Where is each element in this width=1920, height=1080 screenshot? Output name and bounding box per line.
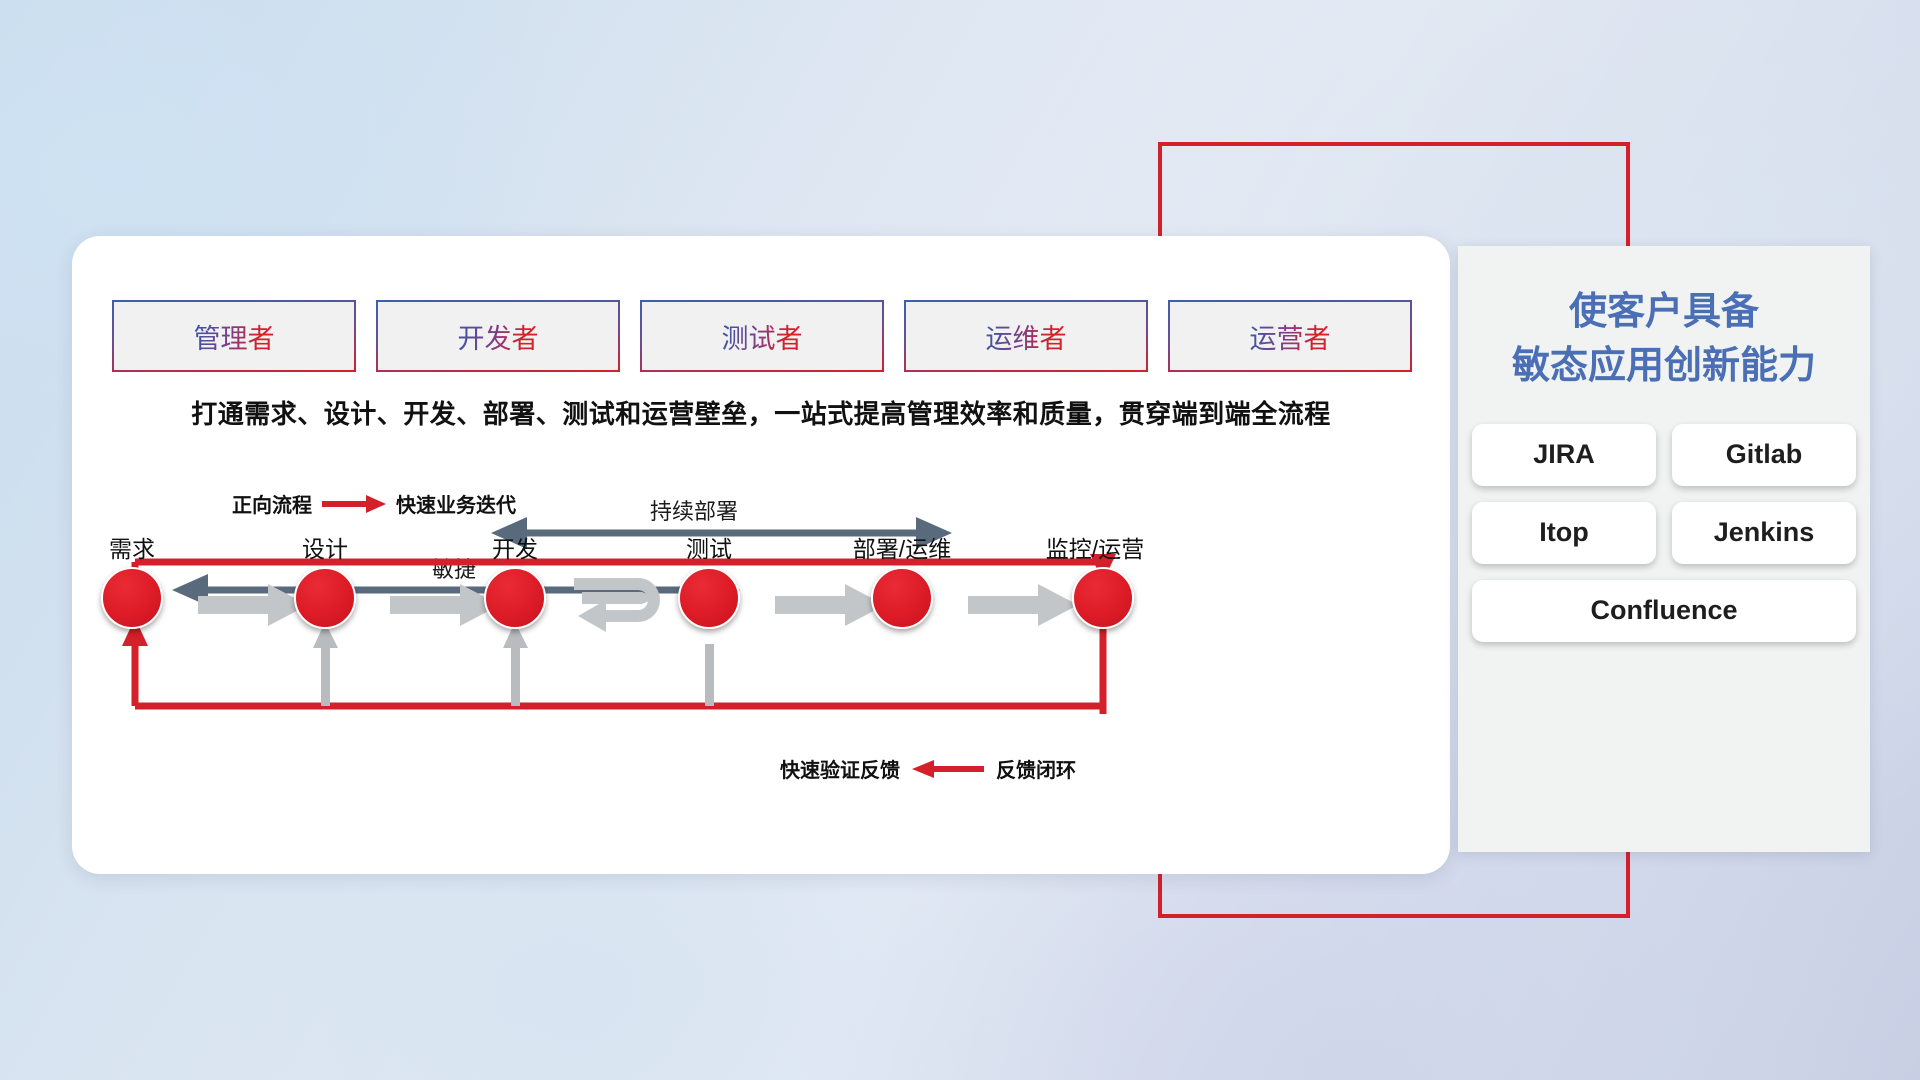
outer-red-frame-bottom — [1158, 914, 1630, 918]
arrow-right-icon — [390, 584, 500, 626]
riser-test — [705, 644, 714, 706]
pipeline-node-label: 需求 — [109, 530, 155, 564]
pipeline-node-label: 测试 — [686, 530, 732, 564]
node-riser-group — [72, 236, 1450, 874]
value-panel: 使客户具备 敏态应用创新能力 JIRA Gitlab Itop Jenkins … — [1458, 246, 1870, 852]
arrow-right-icon — [775, 584, 885, 626]
pipeline-node-dot[interactable] — [294, 567, 356, 629]
pipeline-node-dot[interactable] — [101, 567, 163, 629]
arrow-right-icon — [968, 584, 1078, 626]
tool-chip-gitlab[interactable]: Gitlab — [1672, 424, 1856, 486]
tool-chip-jenkins[interactable]: Jenkins — [1672, 502, 1856, 564]
pipeline-node-dot[interactable] — [1072, 567, 1134, 629]
pipeline-node-dot[interactable] — [678, 567, 740, 629]
cycle-loop-icon — [572, 572, 690, 644]
slide-canvas: 管理者 开发者 测试者 运维者 运营者 打通需求、设计、开发、部署、测试和运营壁… — [0, 0, 1920, 1080]
tool-chip-jira[interactable]: JIRA — [1472, 424, 1656, 486]
panel-title-line2: 敏态应用创新能力 — [1458, 340, 1870, 394]
pipeline-node-dot[interactable] — [484, 567, 546, 629]
riser-develop — [503, 622, 528, 706]
tool-chip-grid: JIRA Gitlab Itop Jenkins Confluence — [1472, 424, 1856, 642]
outer-red-frame-top — [1158, 142, 1630, 146]
main-card: 管理者 开发者 测试者 运维者 运营者 打通需求、设计、开发、部署、测试和运营壁… — [72, 236, 1450, 874]
pipeline-node-label: 开发 — [492, 530, 538, 564]
arrow-right-icon — [198, 584, 308, 626]
tool-chip-itop[interactable]: Itop — [1472, 502, 1656, 564]
pipeline-node-label: 设计 — [302, 530, 348, 564]
pipeline-row: 需求 设计 开发 — [72, 236, 1450, 874]
pipeline-node-label: 部署/运维 — [853, 530, 951, 564]
tool-chip-confluence[interactable]: Confluence — [1472, 580, 1856, 642]
panel-title-line1: 使客户具备 — [1458, 286, 1870, 340]
pipeline-node-dot[interactable] — [871, 567, 933, 629]
riser-design — [313, 622, 338, 706]
panel-title: 使客户具备 敏态应用创新能力 — [1458, 286, 1870, 394]
pipeline-node-label: 监控/运营 — [1046, 530, 1144, 564]
